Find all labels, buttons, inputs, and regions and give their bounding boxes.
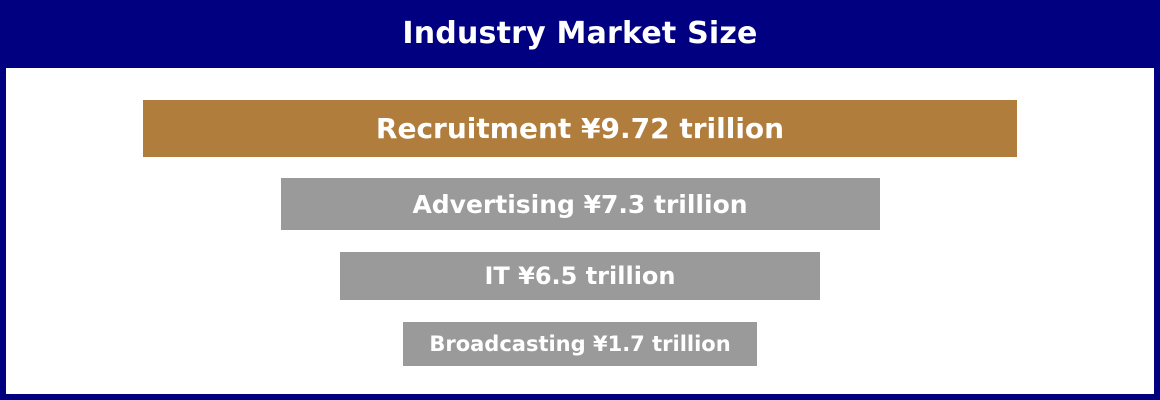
bar-label-it: IT ¥6.5 trillion	[484, 264, 675, 288]
bar-chart: Recruitment ¥9.72 trillion Advertising ¥…	[6, 68, 1154, 394]
bar-label-recruitment: Recruitment ¥9.72 trillion	[376, 115, 784, 143]
page-title: Industry Market Size	[402, 19, 757, 49]
bar-row: Broadcasting ¥1.7 trillion	[6, 322, 1154, 366]
bar-row: Advertising ¥7.3 trillion	[6, 178, 1154, 230]
bar-recruitment: Recruitment ¥9.72 trillion	[143, 100, 1017, 157]
bar-row: Recruitment ¥9.72 trillion	[6, 100, 1154, 157]
bar-advertising: Advertising ¥7.3 trillion	[281, 178, 880, 230]
bar-it: IT ¥6.5 trillion	[340, 252, 820, 300]
slide: Industry Market Size Recruitment ¥9.72 t…	[0, 0, 1160, 400]
bar-row: IT ¥6.5 trillion	[6, 252, 1154, 300]
bar-label-advertising: Advertising ¥7.3 trillion	[412, 192, 747, 217]
frame-border-bottom	[0, 394, 1160, 400]
bar-label-broadcasting: Broadcasting ¥1.7 trillion	[429, 334, 730, 355]
title-bar: Industry Market Size	[0, 0, 1160, 68]
bar-broadcasting: Broadcasting ¥1.7 trillion	[403, 322, 757, 366]
